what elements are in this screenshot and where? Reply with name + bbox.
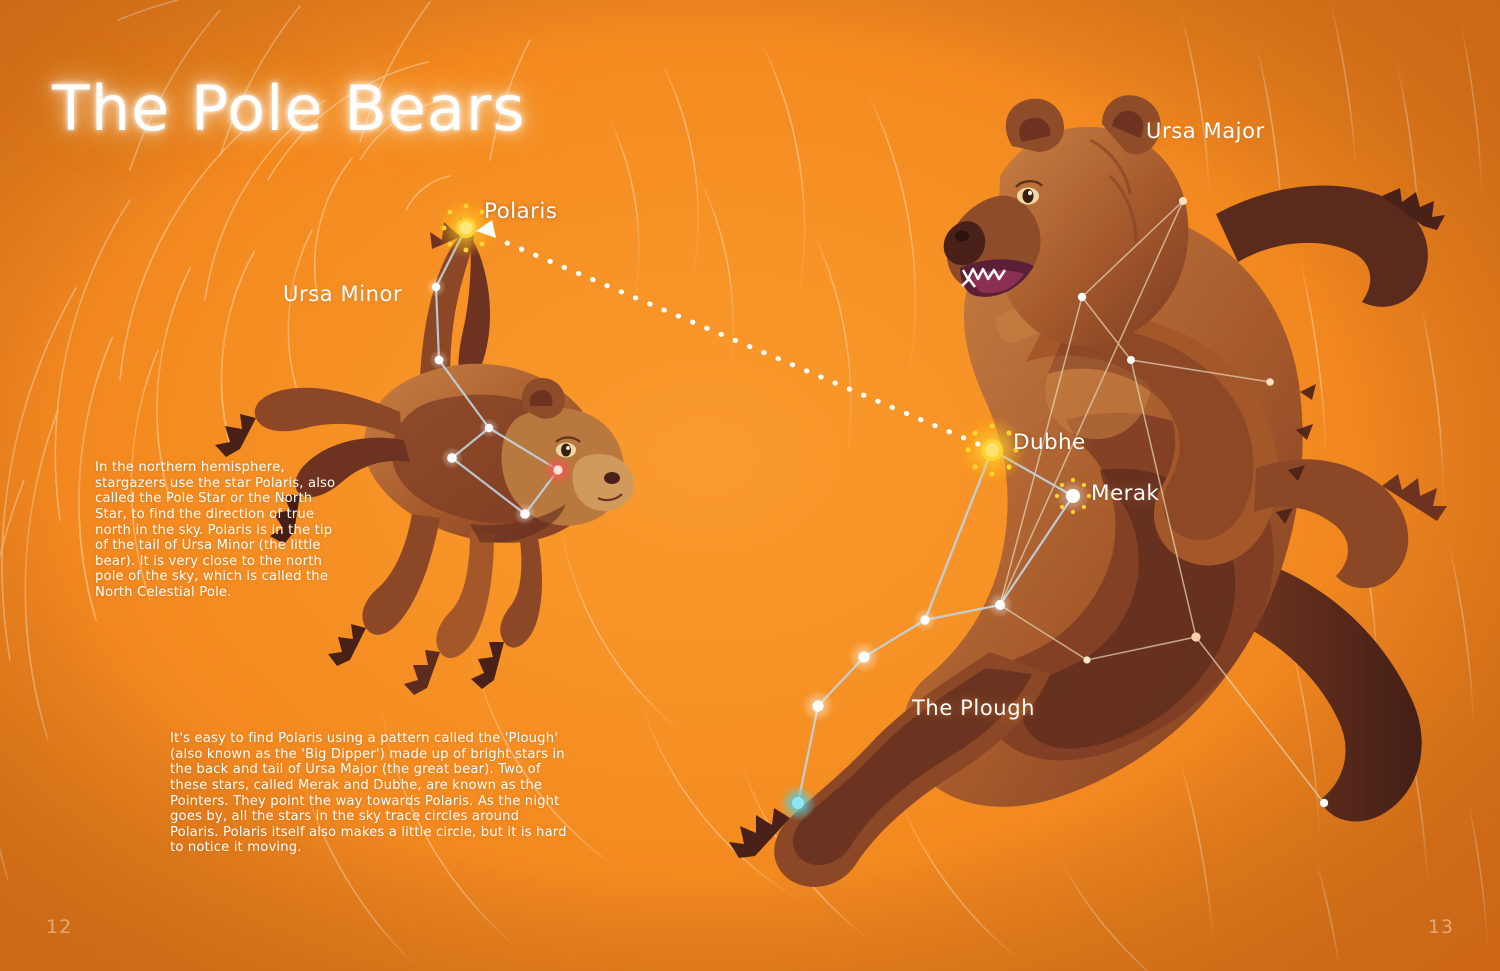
label-star-dubhe: Dubhe: [1013, 430, 1086, 455]
ursa-minor-stars: [426, 277, 573, 525]
book-spread: The Pole Bears In the northern hemispher…: [0, 0, 1500, 971]
label-the-plough: The Plough: [912, 696, 1035, 720]
page-title: The Pole Bears: [52, 78, 526, 140]
ursa-minor-bear: [215, 218, 634, 695]
ursa-major-bear: [729, 95, 1447, 887]
plough-lines: [798, 450, 1073, 803]
star-merak: [1055, 478, 1091, 514]
label-star-merak: Merak: [1091, 481, 1159, 506]
page-number-left: 12: [46, 916, 72, 938]
label-ursa-minor: Ursa Minor: [283, 282, 402, 306]
body-paragraph-2: It's easy to find Polaris using a patter…: [170, 731, 570, 856]
label-star-polaris: Polaris: [484, 199, 557, 224]
label-ursa-major: Ursa Major: [1146, 119, 1265, 143]
ursa-minor-lines: [436, 228, 558, 514]
pointer-line: [476, 220, 978, 444]
page-number-right: 13: [1428, 916, 1454, 938]
ursa-major-outline-lines: [1000, 201, 1324, 803]
body-paragraph-1: In the northern hemisphere, stargazers u…: [95, 460, 345, 600]
